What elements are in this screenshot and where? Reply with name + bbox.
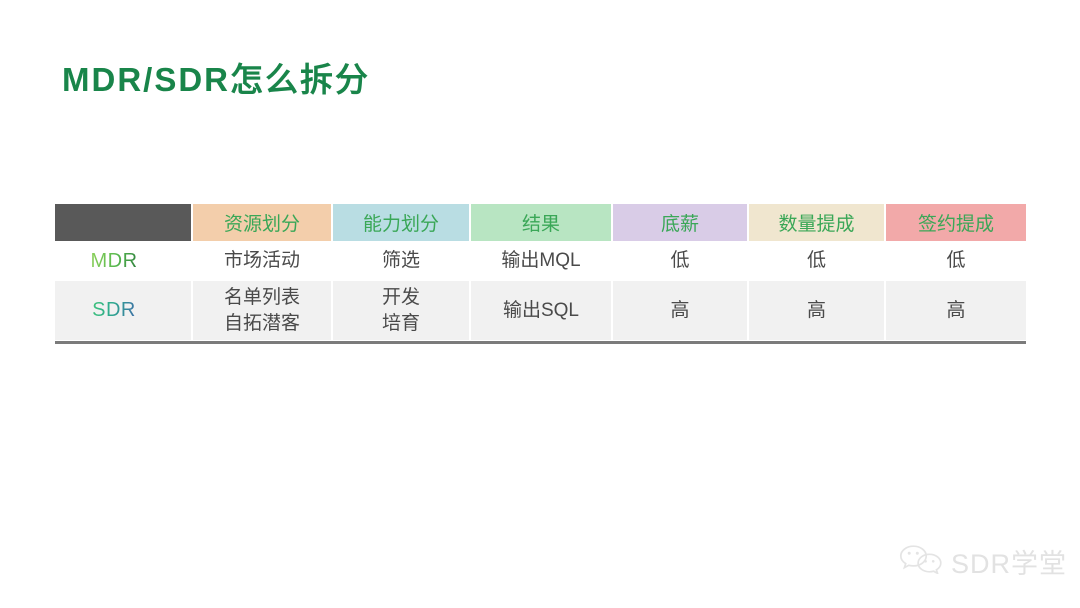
table-row: MDR 市场活动 筛选 输出MQL 低 低 低 [55, 241, 1026, 281]
cell-sdr-result: 输出SQL [470, 281, 612, 340]
table-row: SDR 名单列表 自拓潜客 开发 培育 输出SQL 高 高 高 [55, 281, 1026, 340]
watermark-label: SDR学堂 [951, 542, 1067, 581]
watermark: SDR学堂 [898, 542, 1067, 581]
row-label-sdr-text: SDR [92, 299, 136, 321]
cell-sdr-volume-commission: 高 [748, 281, 885, 340]
cell-sdr-capability: 开发 培育 [332, 281, 470, 340]
cell-sdr-resource: 名单列表 自拓潜客 [192, 281, 332, 340]
cell-mdr-volume-commission: 低 [748, 241, 885, 281]
cell-mdr-base-salary: 低 [612, 241, 748, 281]
cell-mdr-signing-commission: 低 [885, 241, 1026, 281]
column-header-base-salary: 底薪 [612, 204, 748, 241]
table-bottom-rule [55, 341, 1026, 344]
column-header-resource: 资源划分 [192, 204, 332, 241]
row-label-mdr-text: MDR [90, 250, 137, 272]
column-header-signing-commission: 签约提成 [885, 204, 1026, 241]
page-title: MDR/SDR怎么拆分 [62, 60, 370, 100]
cell-mdr-result: 输出MQL [470, 241, 612, 281]
table-corner-cell [55, 204, 192, 241]
cell-sdr-capability-line2: 培育 [333, 311, 469, 337]
column-header-capability: 能力划分 [332, 204, 470, 241]
cell-mdr-resource: 市场活动 [192, 241, 332, 281]
cell-sdr-resource-line2: 自拓潜客 [193, 311, 331, 337]
wechat-icon [898, 544, 944, 579]
row-label-mdr: MDR [55, 241, 192, 281]
cell-sdr-signing-commission: 高 [885, 281, 1026, 340]
cell-sdr-capability-line1: 开发 [333, 285, 469, 311]
cell-mdr-capability: 筛选 [332, 241, 470, 281]
table-header-row: 资源划分 能力划分 结果 底薪 数量提成 签约提成 [55, 204, 1026, 241]
cell-sdr-base-salary: 高 [612, 281, 748, 340]
column-header-volume-commission: 数量提成 [748, 204, 885, 241]
row-label-sdr: SDR [55, 281, 192, 340]
cell-sdr-resource-line1: 名单列表 [193, 285, 331, 311]
column-header-result: 结果 [470, 204, 612, 241]
mdr-sdr-comparison-table: 资源划分 能力划分 结果 底薪 数量提成 签约提成 MDR 市场活动 筛选 输出… [55, 204, 1026, 340]
